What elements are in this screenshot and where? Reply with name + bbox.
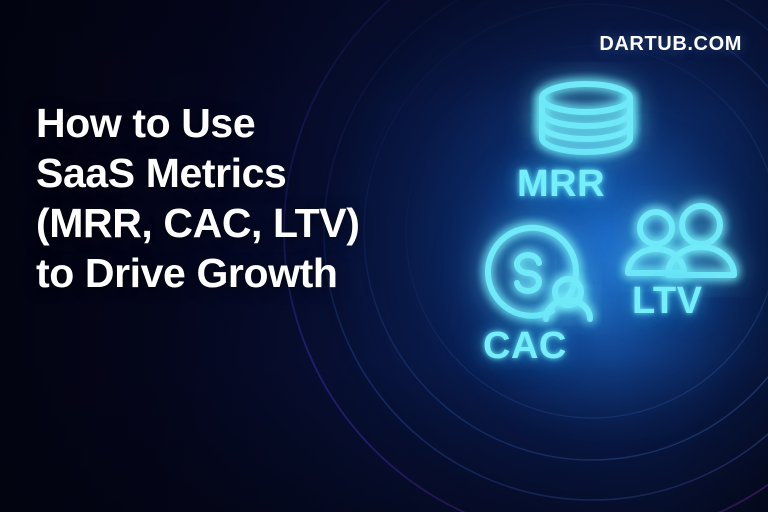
metric-ltv-label: LTV [632, 280, 702, 323]
banner-canvas: DARTUB.COM How to Use SaaS Metrics (MRR,… [0, 0, 768, 512]
dollar-circle-person-icon [468, 222, 608, 327]
database-cylinder-icon [528, 80, 644, 160]
page-title: How to Use SaaS Metrics (MRR, CAC, LTV) … [36, 98, 436, 298]
two-people-icon [620, 205, 744, 283]
site-logo-text: DARTUB.COM [599, 33, 742, 56]
metric-cac-label: CAC [483, 325, 567, 368]
title-line-3: (MRR, CAC, LTV) [36, 198, 436, 248]
title-line-4: to Drive Growth [36, 248, 436, 298]
metric-mrr: MRR [500, 80, 670, 205]
title-line-1: How to Use [36, 98, 436, 148]
metric-cac: CAC [460, 222, 620, 377]
metric-ltv: LTV [616, 205, 766, 340]
title-line-2: SaaS Metrics [36, 148, 436, 198]
metric-mrr-label: MRR [517, 163, 605, 206]
